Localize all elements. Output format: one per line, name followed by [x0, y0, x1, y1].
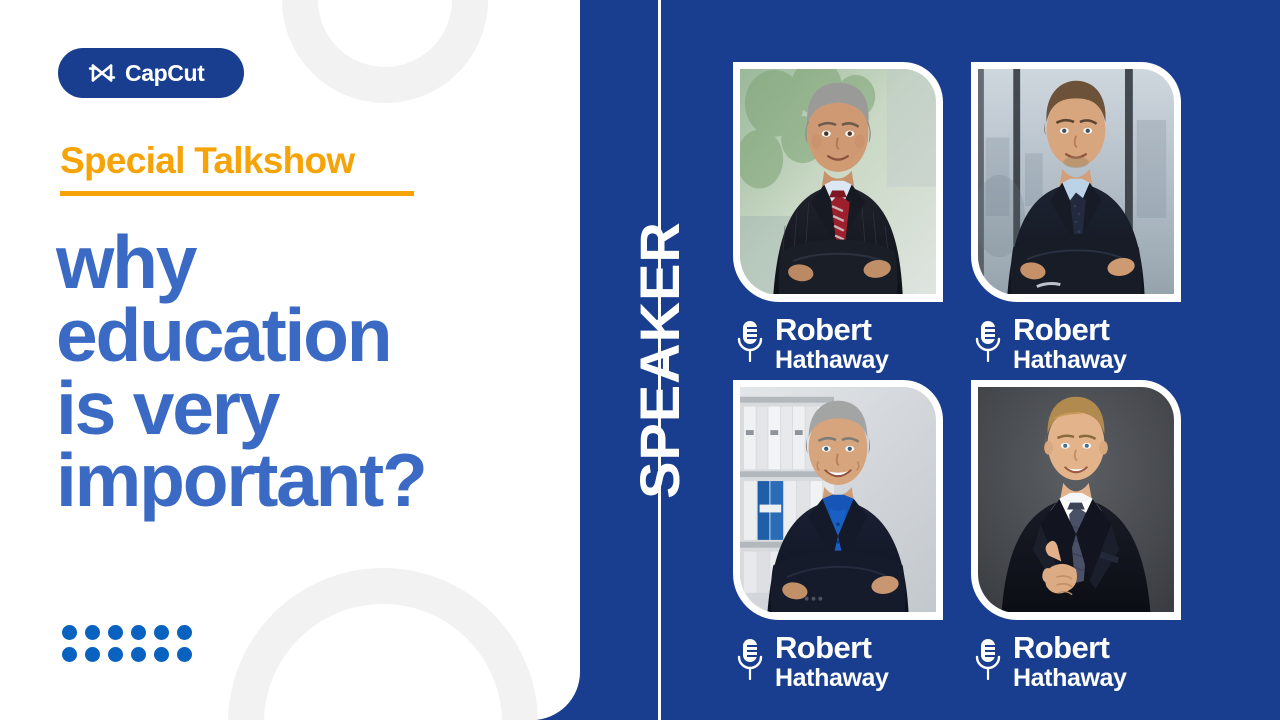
headline-line-3: is very	[56, 372, 556, 445]
decorative-dot	[131, 625, 146, 640]
speaker-name-block: RobertHathaway	[1013, 632, 1127, 691]
speaker-photo	[740, 69, 936, 295]
speaker-photo-frame	[971, 62, 1181, 302]
decorative-ring-top	[282, 0, 488, 103]
speaker-first-name: Robert	[775, 632, 889, 663]
speaker-name-row: RobertHathaway	[974, 632, 1127, 691]
speaker-last-name: Hathaway	[775, 666, 889, 691]
speaker-name-row: RobertHathaway	[736, 632, 889, 691]
speaker-last-name: Hathaway	[1013, 666, 1127, 691]
decorative-dot-grid	[62, 625, 193, 663]
decorative-dot	[108, 647, 123, 662]
speaker-name-block: RobertHathaway	[775, 632, 889, 691]
speaker-name-block: RobertHathaway	[775, 314, 889, 373]
microphone-icon	[974, 638, 1002, 680]
speaker-last-name: Hathaway	[775, 348, 889, 373]
speaker-name-block: RobertHathaway	[1013, 314, 1127, 373]
capcut-logo-icon	[88, 62, 116, 84]
speaker-photo	[978, 387, 1174, 613]
decorative-dot	[108, 625, 123, 640]
speaker-photo	[740, 387, 936, 613]
speaker-first-name: Robert	[775, 314, 889, 345]
poster-canvas: CapCut Special Talkshow why education is…	[0, 0, 1280, 720]
kicker-text: Special Talkshow	[60, 142, 414, 181]
headline: why education is very important?	[56, 226, 556, 517]
speaker-section-label: SPEAKER	[619, 228, 701, 492]
capcut-logo-badge[interactable]: CapCut	[58, 48, 244, 98]
speaker-card[interactable]: RobertHathaway	[971, 62, 1181, 310]
decorative-dot	[62, 647, 77, 662]
kicker-underline	[60, 191, 414, 196]
speaker-grid: RobertHathawayRobertHathawayRobertHathaw…	[733, 62, 1203, 682]
speaker-card[interactable]: RobertHathaway	[733, 380, 943, 628]
headline-line-2: education	[56, 299, 556, 372]
speaker-photo-frame	[971, 380, 1181, 620]
speaker-section-label-text: SPEAKER	[632, 221, 688, 499]
speaker-name-row: RobertHathaway	[736, 314, 889, 373]
headline-line-4: important?	[56, 444, 556, 517]
left-content-panel: CapCut Special Talkshow why education is…	[0, 0, 580, 720]
decorative-dot	[177, 625, 192, 640]
decorative-dot	[85, 625, 100, 640]
microphone-icon	[974, 320, 1002, 362]
speaker-portrait-image	[978, 387, 1174, 612]
speaker-card[interactable]: RobertHathaway	[733, 62, 943, 310]
speaker-photo-frame	[733, 62, 943, 302]
decorative-dot	[154, 647, 169, 662]
speaker-photo	[978, 69, 1174, 295]
decorative-dot	[62, 625, 77, 640]
decorative-dot	[85, 647, 100, 662]
speaker-last-name: Hathaway	[1013, 348, 1127, 373]
microphone-icon	[736, 638, 764, 680]
kicker-group: Special Talkshow	[60, 142, 414, 196]
speaker-portrait-image	[978, 69, 1174, 294]
capcut-wordmark: CapCut	[125, 62, 204, 85]
speaker-card[interactable]: RobertHathaway	[971, 380, 1181, 628]
decorative-ring-bottom	[228, 568, 538, 720]
speaker-portrait-image	[740, 387, 936, 612]
decorative-dot	[177, 647, 192, 662]
speaker-photo-frame	[733, 380, 943, 620]
decorative-dot	[154, 625, 169, 640]
speaker-name-row: RobertHathaway	[974, 314, 1127, 373]
headline-line-1: why	[56, 226, 556, 299]
speaker-first-name: Robert	[1013, 632, 1127, 663]
speaker-portrait-image	[740, 69, 936, 294]
microphone-icon	[736, 320, 764, 362]
decorative-dot	[131, 647, 146, 662]
speaker-first-name: Robert	[1013, 314, 1127, 345]
